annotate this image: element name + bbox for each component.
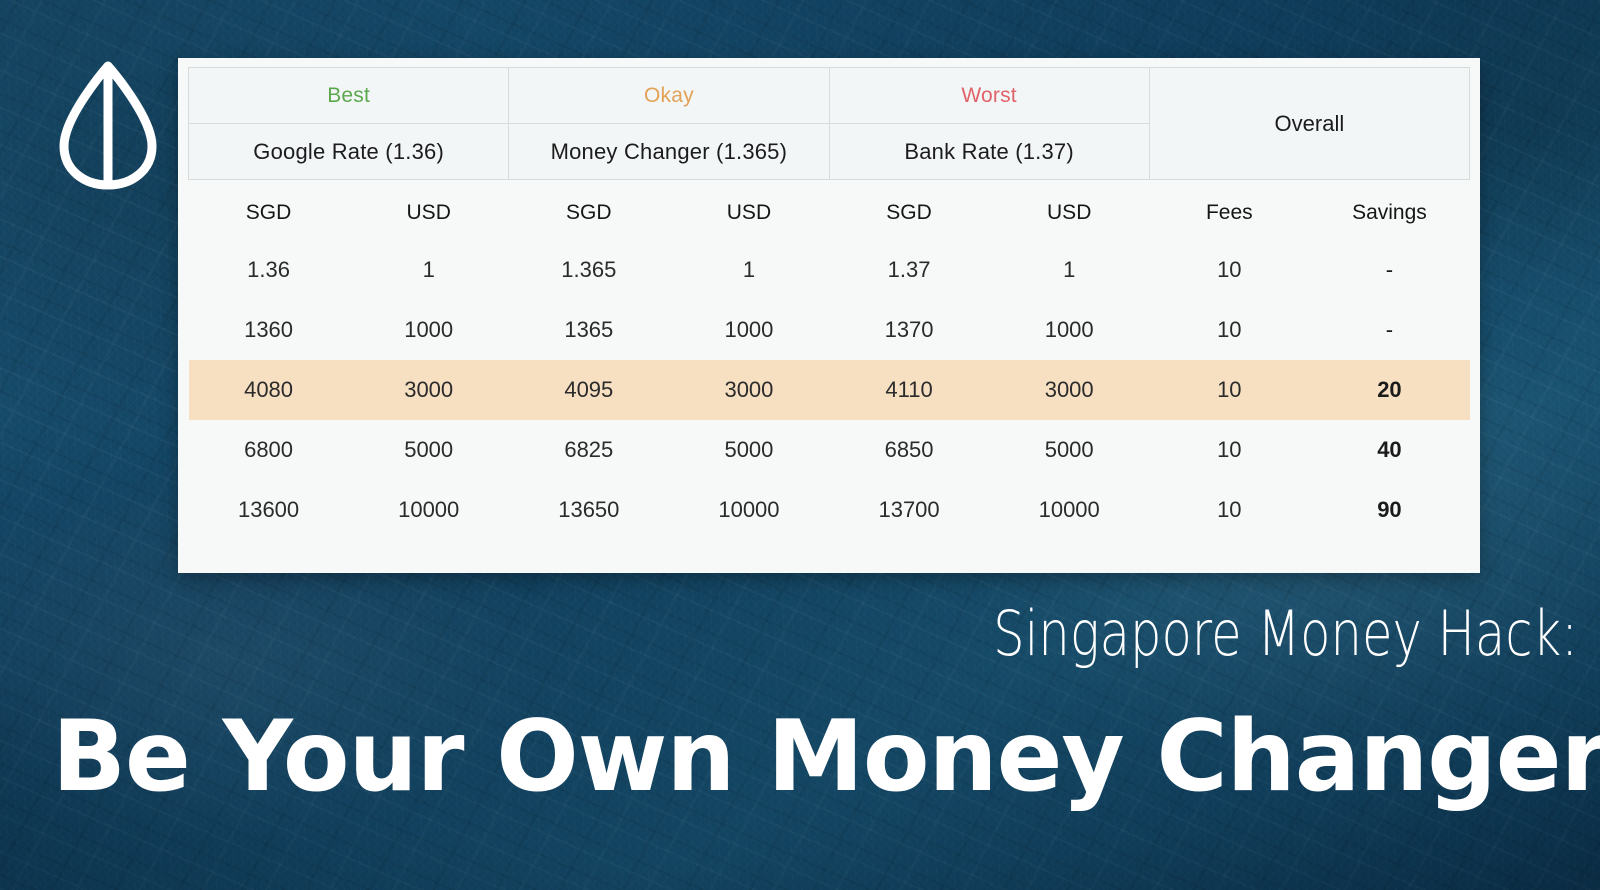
overall-group-header: Overall: [1149, 68, 1469, 180]
cell-fees: 10: [1149, 420, 1309, 480]
column-header-google-sgd: SGD: [189, 180, 349, 240]
column-header-bank-usd: USD: [989, 180, 1149, 240]
table-row: 13600 10000 13650 10000 13700 10000 10 9…: [189, 480, 1470, 540]
quality-label-okay: Okay: [509, 68, 829, 124]
cell-fees: 10: [1149, 300, 1309, 360]
cell-moneychanger-usd: 1000: [669, 300, 829, 360]
poster-canvas: Best Okay Worst Overall Google Rate (1.3…: [0, 0, 1600, 890]
cell-google-usd: 1: [349, 240, 509, 300]
cell-bank-usd: 1: [989, 240, 1149, 300]
cell-moneychanger-sgd: 6825: [509, 420, 669, 480]
rate-comparison-table: Best Okay Worst Overall Google Rate (1.3…: [188, 67, 1470, 540]
table-row-highlighted: 4080 3000 4095 3000 4110 3000 10 20: [189, 360, 1470, 420]
cell-google-usd: 5000: [349, 420, 509, 480]
cell-savings: 90: [1309, 480, 1469, 540]
cell-bank-sgd: 4110: [829, 360, 989, 420]
quality-label-best: Best: [189, 68, 509, 124]
table-row: 1360 1000 1365 1000 1370 1000 10 -: [189, 300, 1470, 360]
cell-bank-sgd: 1370: [829, 300, 989, 360]
cell-bank-usd: 1000: [989, 300, 1149, 360]
cell-fees: 10: [1149, 360, 1309, 420]
cell-google-sgd: 1360: [189, 300, 349, 360]
cell-bank-usd: 3000: [989, 360, 1149, 420]
leaf-drop-logo-icon: [56, 60, 160, 190]
table-column-header-row: SGD USD SGD USD SGD USD Fees Savings: [189, 180, 1470, 240]
cell-savings: 20: [1309, 360, 1469, 420]
cell-moneychanger-sgd: 1365: [509, 300, 669, 360]
cell-google-usd: 3000: [349, 360, 509, 420]
cell-moneychanger-usd: 10000: [669, 480, 829, 540]
cell-moneychanger-usd: 5000: [669, 420, 829, 480]
cell-bank-sgd: 1.37: [829, 240, 989, 300]
cell-google-usd: 1000: [349, 300, 509, 360]
cell-moneychanger-usd: 3000: [669, 360, 829, 420]
table-row: 6800 5000 6825 5000 6850 5000 10 40: [189, 420, 1470, 480]
cell-google-sgd: 13600: [189, 480, 349, 540]
cell-savings: -: [1309, 300, 1469, 360]
table-quality-header-row: Best Okay Worst Overall: [189, 68, 1470, 124]
cell-fees: 10: [1149, 240, 1309, 300]
cell-google-usd: 10000: [349, 480, 509, 540]
column-header-moneychanger-usd: USD: [669, 180, 829, 240]
cell-bank-usd: 5000: [989, 420, 1149, 480]
hero-subtitle: Singapore Money Hack:: [698, 603, 1578, 665]
cell-google-sgd: 4080: [189, 360, 349, 420]
cell-moneychanger-sgd: 13650: [509, 480, 669, 540]
cell-savings: -: [1309, 240, 1469, 300]
table-row: 1.36 1 1.365 1 1.37 1 10 -: [189, 240, 1470, 300]
cell-bank-sgd: 6850: [829, 420, 989, 480]
cell-bank-sgd: 13700: [829, 480, 989, 540]
column-header-moneychanger-sgd: SGD: [509, 180, 669, 240]
hero-headline: Be Your Own Money Changer!: [52, 708, 1537, 806]
cell-savings: 40: [1309, 420, 1469, 480]
column-header-fees: Fees: [1149, 180, 1309, 240]
cell-google-sgd: 6800: [189, 420, 349, 480]
provider-money-changer-rate: Money Changer (1.365): [509, 124, 829, 180]
cell-fees: 10: [1149, 480, 1309, 540]
cell-bank-usd: 10000: [989, 480, 1149, 540]
provider-google-rate: Google Rate (1.36): [189, 124, 509, 180]
cell-moneychanger-usd: 1: [669, 240, 829, 300]
rate-comparison-card: Best Okay Worst Overall Google Rate (1.3…: [178, 58, 1480, 573]
column-header-google-usd: USD: [349, 180, 509, 240]
column-header-bank-sgd: SGD: [829, 180, 989, 240]
column-header-savings: Savings: [1309, 180, 1469, 240]
cell-google-sgd: 1.36: [189, 240, 349, 300]
cell-moneychanger-sgd: 4095: [509, 360, 669, 420]
provider-bank-rate: Bank Rate (1.37): [829, 124, 1149, 180]
quality-label-worst: Worst: [829, 68, 1149, 124]
cell-moneychanger-sgd: 1.365: [509, 240, 669, 300]
